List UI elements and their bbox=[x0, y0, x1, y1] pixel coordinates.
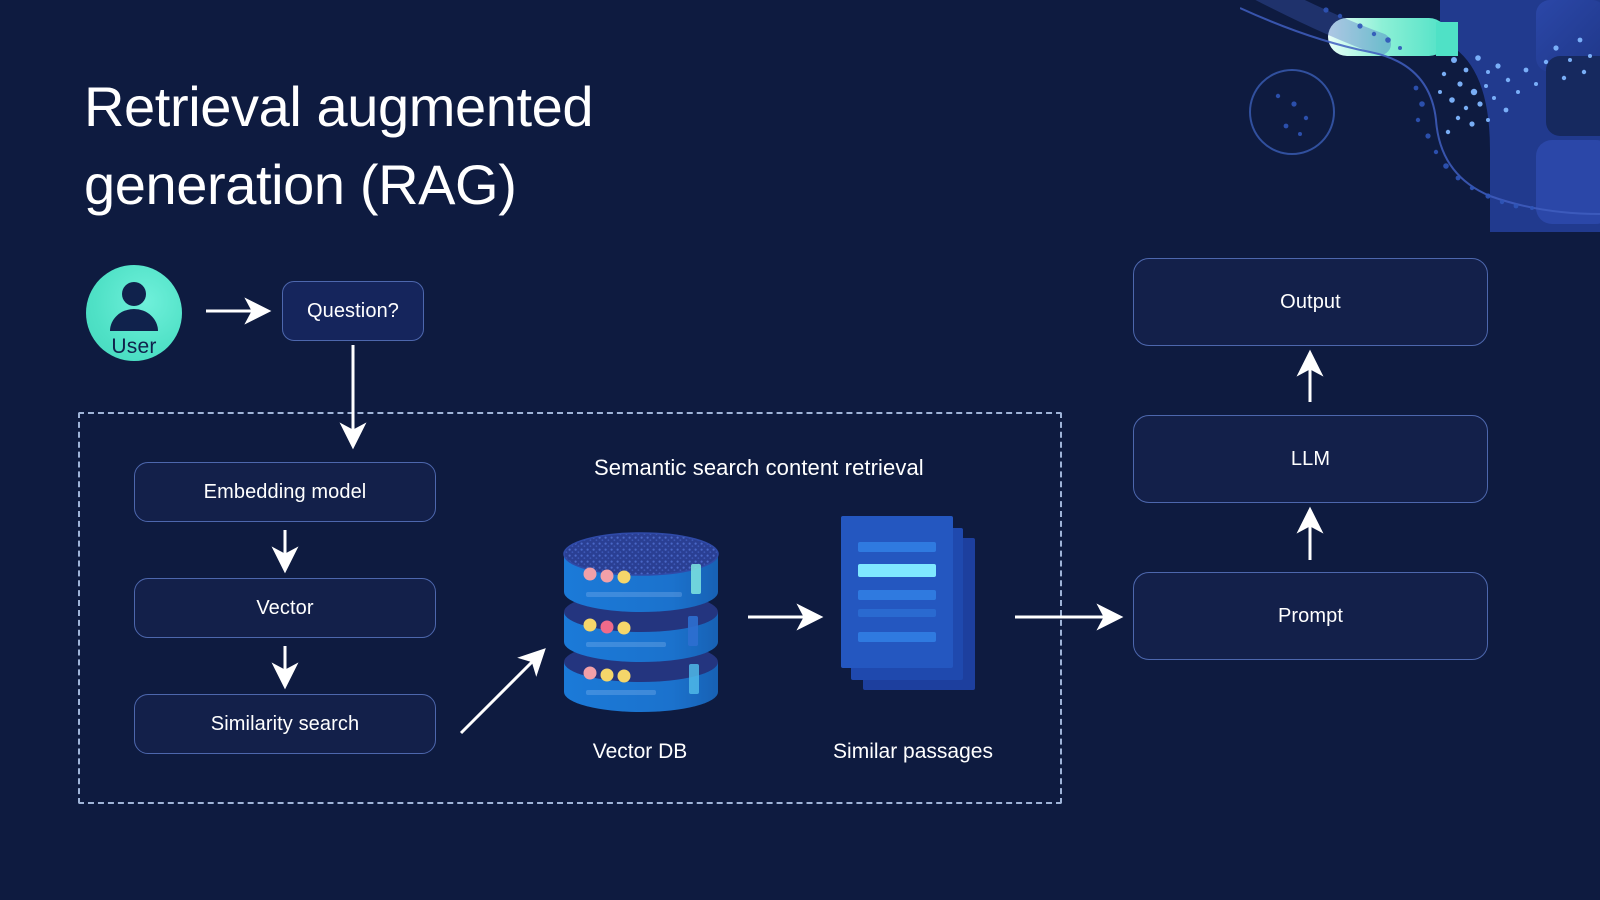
similar-passages-illustration bbox=[833, 510, 993, 715]
node-embedding-model-label: Embedding model bbox=[204, 481, 367, 504]
decor-square-2 bbox=[1546, 56, 1600, 136]
node-vector-label: Vector bbox=[256, 597, 313, 620]
db-side-tag-1 bbox=[691, 564, 701, 594]
decor-square-1 bbox=[1536, 0, 1600, 72]
node-llm-label: LLM bbox=[1291, 448, 1330, 471]
node-embedding-model[interactable]: Embedding model bbox=[134, 462, 436, 522]
node-prompt-label: Prompt bbox=[1278, 605, 1343, 628]
node-prompt[interactable]: Prompt bbox=[1133, 572, 1488, 660]
user-avatar-icon bbox=[105, 277, 163, 335]
decor-particles bbox=[1438, 38, 1592, 135]
decorative-graphic bbox=[1240, 0, 1600, 232]
node-question[interactable]: Question? bbox=[282, 281, 424, 341]
node-vector[interactable]: Vector bbox=[134, 578, 436, 638]
node-similarity-search[interactable]: Similarity search bbox=[134, 694, 436, 754]
user-label: User bbox=[86, 335, 182, 359]
similar-passages-caption: Similar passages bbox=[813, 740, 1013, 764]
decor-teal-pill bbox=[1328, 18, 1448, 56]
node-question-label: Question? bbox=[307, 300, 399, 323]
db-side-tag-3 bbox=[689, 664, 699, 694]
similar-passages-svg bbox=[833, 510, 993, 715]
vector-db-caption: Vector DB bbox=[540, 740, 740, 764]
node-similarity-search-label: Similarity search bbox=[211, 713, 359, 736]
page-title: Retrieval augmented generation (RAG) bbox=[84, 68, 784, 224]
node-output-label: Output bbox=[1280, 291, 1341, 314]
decor-svg bbox=[1240, 0, 1600, 232]
vector-db-illustration bbox=[556, 512, 726, 722]
retrieval-region-heading: Semantic search content retrieval bbox=[594, 455, 924, 481]
decor-curve bbox=[1240, 8, 1600, 214]
decor-square-3 bbox=[1536, 140, 1600, 224]
slide-canvas: Retrieval augmented generation (RAG) Use… bbox=[0, 0, 1600, 900]
vector-db-svg bbox=[556, 512, 726, 722]
decor-circle-outline bbox=[1250, 70, 1334, 154]
node-output[interactable]: Output bbox=[1133, 258, 1488, 346]
passage-line-highlight bbox=[858, 564, 936, 577]
node-llm[interactable]: LLM bbox=[1133, 415, 1488, 503]
db-side-tag-2 bbox=[688, 616, 698, 646]
user-node: User bbox=[86, 265, 182, 361]
